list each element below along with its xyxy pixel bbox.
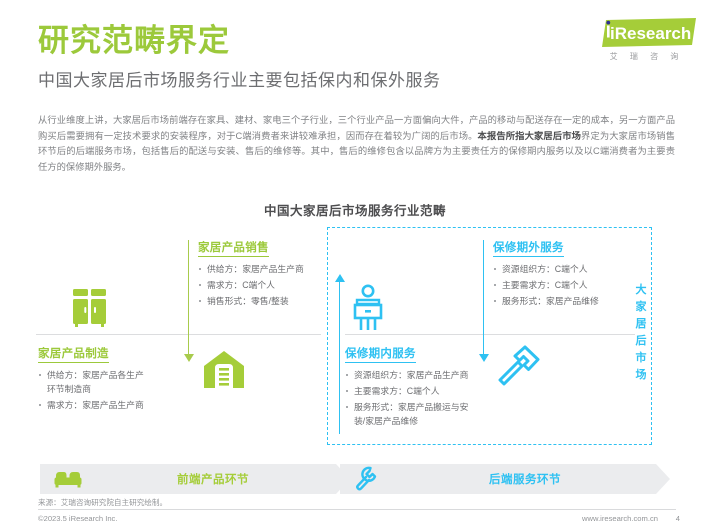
sofa-icon <box>44 464 92 494</box>
list-item: 销售形式：零售/整装 <box>198 294 348 308</box>
wardrobe-icon <box>66 284 114 337</box>
stage-back-end: 后端服务环节 <box>340 464 670 494</box>
logo-text: iResearch <box>610 24 691 43</box>
block-home-product-sales: 家居产品销售 供给方：家居产品生产商 需求方：C端个人 销售形式：零售/整装 <box>198 238 348 310</box>
page-title: 研究范畴界定 <box>38 24 230 58</box>
slide: iResearch 艾 瑞 咨 询 研究范畴界定 中国大家居后市场服务行业主要包… <box>0 0 710 532</box>
block-heading: 家居产品制造 <box>38 345 109 363</box>
list-item: 服务形式：家居产品搬运与安 <box>345 400 495 414</box>
list-item: 供给方：家居产品各生产 <box>38 368 198 382</box>
warehouse-icon <box>200 346 248 399</box>
hammer-icon <box>492 344 544 397</box>
block-in-warranty-service: 保修期内服务 资源组织方：家居产品生产商 主要需求方：C端个人 服务形式：家居产… <box>345 344 495 430</box>
stage-label: 前端产品环节 <box>141 471 249 487</box>
list-item: 供给方：家居产品生产商 <box>198 262 348 276</box>
stage-bars: 前端产品环节 后端服务环节 <box>40 464 670 494</box>
logo-mark: iResearch <box>590 18 698 48</box>
scope-char-5: 市 <box>634 350 648 367</box>
list-item: 服务形式：家居产品维修 <box>493 294 643 308</box>
iresearch-logo: iResearch 艾 瑞 咨 询 <box>590 18 698 62</box>
worker-icon <box>347 284 389 337</box>
block-items: 资源组织方：C端个人 主要需求方：C端个人 服务形式：家居产品维修 <box>493 262 643 308</box>
list-item-continuation: 装/家居产品维修 <box>345 414 495 428</box>
block-out-of-warranty-service: 保修期外服务 资源组织方：C端个人 主要需求方：C端个人 服务形式：家居产品维修 <box>493 238 643 310</box>
body-paragraphs: 从行业维度上讲，大家居后市场前端存在家具、建材、家电三个子行业，三个行业产品一方… <box>38 113 675 175</box>
block-heading: 保修期内服务 <box>345 345 416 363</box>
stage-front-end: 前端产品环节 <box>40 464 350 494</box>
block-items: 资源组织方：家居产品生产商 主要需求方：C端个人 服务形式：家居产品搬运与安 装… <box>345 368 495 428</box>
scope-char-3: 居 <box>634 316 648 333</box>
footer-divider <box>38 509 676 510</box>
scope-diagram: 大家居后市场 <box>0 222 710 462</box>
wrench-icon <box>342 464 390 494</box>
list-item: 需求方：家居产品生产商 <box>38 398 198 412</box>
block-heading: 家居产品销售 <box>198 239 269 257</box>
paragraph-2-bold: 本报告所指大家居后市场 <box>478 131 581 141</box>
list-item: 资源组织方：C端个人 <box>493 262 643 276</box>
logo-shape-icon: iResearch <box>590 18 698 48</box>
page-number: 4 <box>676 514 680 523</box>
copyright-text: ©2023.5 iResearch Inc. <box>38 514 117 523</box>
block-home-product-manufacturing: 家居产品制造 供给方：家居产品各生产 环节制造商 需求方：家居产品生产商 <box>38 344 198 414</box>
list-item: 主要需求方：C端个人 <box>493 278 643 292</box>
list-item: 需求方：C端个人 <box>198 278 348 292</box>
stage-label: 后端服务环节 <box>449 471 561 487</box>
scope-char-4: 后 <box>634 333 648 350</box>
list-item: 资源组织方：家居产品生产商 <box>345 368 495 382</box>
list-item: 主要需求方：C端个人 <box>345 384 495 398</box>
website-link[interactable]: www.iresearch.com.cn <box>582 514 658 523</box>
block-items: 供给方：家居产品各生产 环节制造商 需求方：家居产品生产商 <box>38 368 198 412</box>
block-heading: 保修期外服务 <box>493 239 564 257</box>
scope-char-6: 场 <box>634 367 648 384</box>
block-items: 供给方：家居产品生产商 需求方：C端个人 销售形式：零售/整装 <box>198 262 348 308</box>
list-item-continuation: 环节制造商 <box>38 382 198 396</box>
page-subtitle: 中国大家居后市场服务行业主要包括保内和保外服务 <box>38 66 441 91</box>
source-note: 来源：艾瑞咨询研究院自主研究绘制。 <box>38 497 167 508</box>
logo-subtitle: 艾 瑞 咨 询 <box>590 51 698 62</box>
chart-title: 中国大家居后市场服务行业范畴 <box>0 200 710 219</box>
